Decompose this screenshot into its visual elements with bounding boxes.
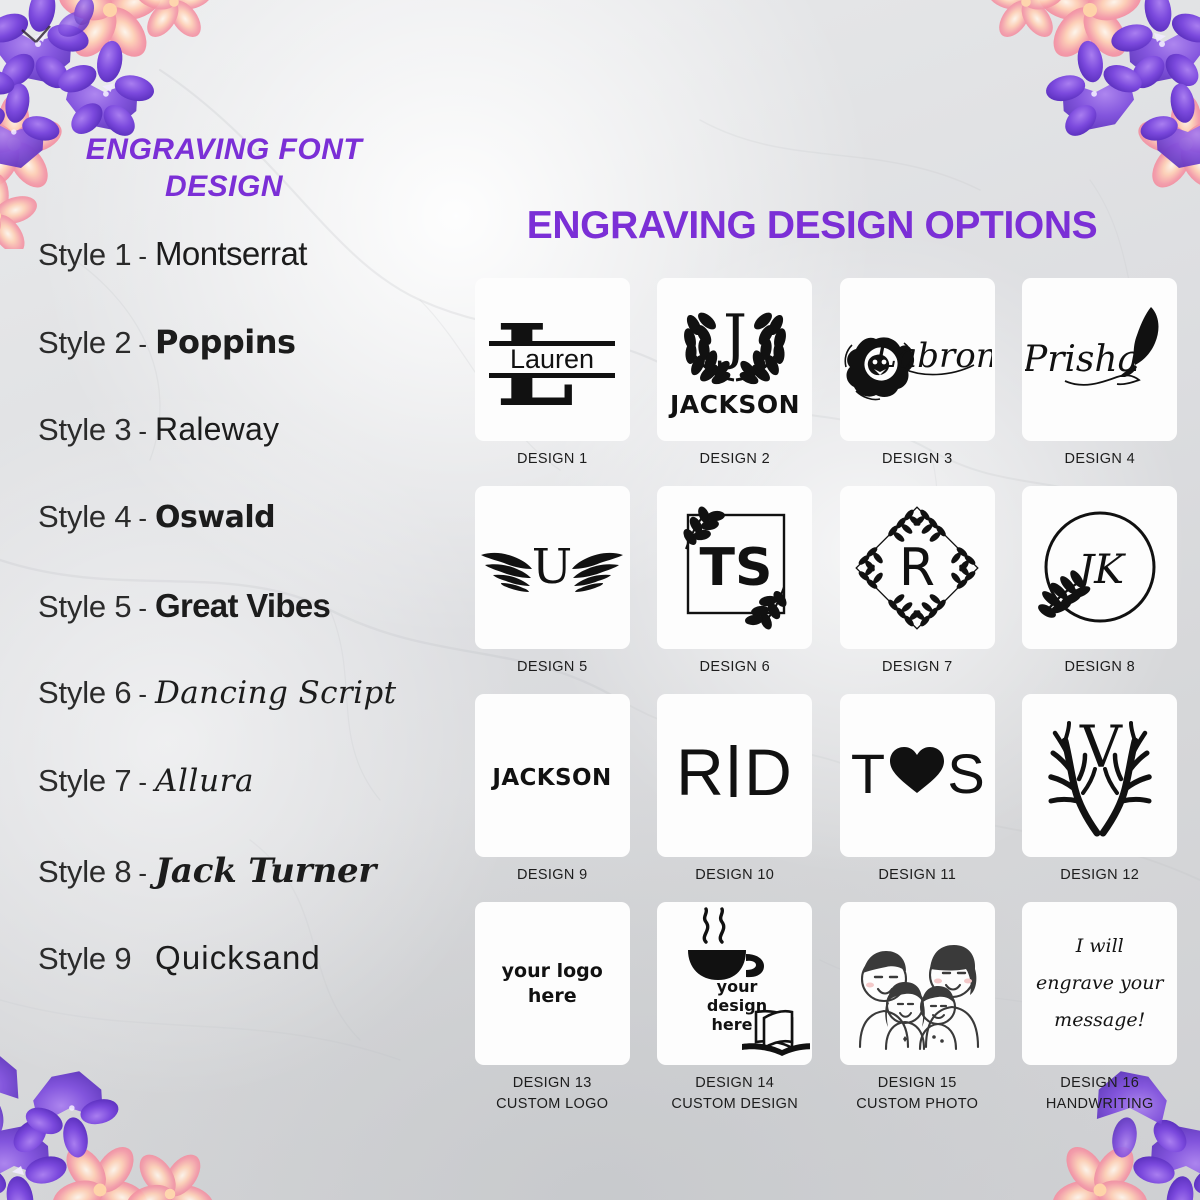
family-photo-icon [842, 909, 992, 1059]
design-tile[interactable]: V [1022, 694, 1177, 857]
design-cell[interactable]: L Lauren DESIGN 1 [470, 278, 635, 481]
style-label: Style 6 [38, 675, 131, 711]
design-caption: DESIGN 13 CUSTOM LOGO [470, 1065, 635, 1105]
style-font-name: Quicksand [155, 939, 321, 977]
circle-leaf-frame-icon: JK [1025, 493, 1175, 643]
font-style-list: Style 1 - Montserrat Style 2 - Poppins S… [0, 235, 470, 1027]
font-style-row[interactable]: Style 1 - Montserrat [0, 235, 470, 323]
font-style-row[interactable]: Style 7 - Allura [0, 763, 470, 851]
engraving-font-panel: ENGRAVING FONT DESIGN Style 1 - Montserr… [0, 132, 470, 1027]
style-label: Style 4 [38, 499, 131, 535]
style-label: Style 5 [38, 589, 131, 625]
design-caption: DESIGN 6 [653, 649, 818, 689]
style-dash: - [131, 329, 155, 360]
lion-head-icon: Labron [842, 285, 992, 435]
split-initials-icon: R D [660, 701, 810, 851]
style-dash: - [131, 767, 155, 798]
design-caption: DESIGN 15 CUSTOM PHOTO [835, 1065, 1000, 1105]
design10-left: R [676, 735, 724, 809]
design-cell[interactable]: JK [1018, 486, 1183, 689]
style-dash: - [131, 503, 155, 534]
design-cell[interactable]: JACKSON DESIGN 9 [470, 694, 635, 897]
design-cell[interactable]: TS [653, 486, 818, 689]
design-tile[interactable]: JK [1022, 486, 1177, 649]
design-cell[interactable]: J [653, 278, 818, 481]
style-font-name: Great Vibes [155, 587, 330, 625]
design6-letters: TS [699, 538, 772, 598]
font-style-row[interactable]: Style 9 - Quicksand [0, 939, 470, 1027]
style-dash: - [131, 241, 155, 272]
style-label: Style 1 [38, 237, 131, 273]
font-style-row[interactable]: Style 6 - Dancing Script [0, 675, 470, 763]
design16-line2: engrave your [1036, 972, 1164, 994]
antlers-icon: V [1025, 701, 1175, 851]
style-font-name: Allura [155, 763, 254, 799]
square-leaf-frame-icon: TS [660, 493, 810, 643]
angel-wings-icon: U [477, 493, 627, 643]
design16-line3: message! [1054, 1009, 1145, 1031]
plain-name-icon: JACKSON [477, 701, 627, 851]
design-tile[interactable]: R D [657, 694, 812, 857]
split-monogram-icon: L Lauren [477, 285, 627, 435]
style-label: Style 2 [38, 325, 131, 361]
diamond-vine-frame-icon: R [842, 493, 992, 643]
design4-name: Prisha [1025, 339, 1139, 380]
style-label: Style 9 [38, 941, 131, 977]
design2-name: JACKSON [668, 390, 800, 419]
design14-line3: here [711, 1015, 752, 1034]
font-panel-heading: ENGRAVING FONT DESIGN [24, 132, 424, 205]
design-caption: DESIGN 14 CUSTOM DESIGN [653, 1065, 818, 1105]
design-caption: DESIGN 1 [470, 441, 635, 481]
design-tile[interactable]: JACKSON [475, 694, 630, 857]
design-tile[interactable] [840, 902, 995, 1065]
font-style-row[interactable]: Style 5 - Great Vibes [0, 587, 470, 675]
custom-design-icon: your design here [660, 906, 810, 1061]
font-heading-line2: DESIGN [165, 170, 283, 203]
design-caption: DESIGN 12 [1018, 857, 1183, 897]
design-tile[interactable]: R [840, 486, 995, 649]
design-cell[interactable]: Labron DESIGN 3 [835, 278, 1000, 481]
design-caption: DESIGN 16 HANDWRITING [1018, 1065, 1183, 1105]
font-heading-line1: ENGRAVING FONT [86, 133, 362, 166]
style-dash: - [131, 416, 155, 447]
design-caption: DESIGN 9 [470, 857, 635, 897]
engraving-design-panel: ENGRAVING DESIGN OPTIONS L Lauren DESIGN… [470, 204, 1182, 1105]
design13-line2: here [528, 985, 577, 1007]
design5-letter: U [532, 539, 572, 595]
design-tile[interactable]: your logo here [475, 902, 630, 1065]
design9-name: JACKSON [491, 765, 612, 791]
design-tile[interactable]: T S [840, 694, 995, 857]
custom-logo-icon: your logo here [502, 959, 603, 1008]
design-caption: DESIGN 7 [835, 649, 1000, 689]
design-cell[interactable]: V [1018, 694, 1183, 897]
design-tile[interactable]: J [657, 278, 812, 441]
design-tile[interactable]: Labron [840, 278, 995, 441]
design-caption: DESIGN 10 [653, 857, 818, 897]
style-font-name: Raleway [155, 411, 279, 448]
floral-corner-bottom-left [0, 1010, 224, 1200]
style-font-name: Dancing Script [155, 675, 396, 711]
style-label: Style 3 [38, 412, 131, 448]
design-cell[interactable]: your design here DESIGN 14 CUSTOM DESIGN [653, 902, 818, 1105]
font-style-row[interactable]: Style 8 - Jack Turner [0, 851, 470, 939]
heart-initials-icon: T S [842, 701, 992, 851]
design-caption: DESIGN 4 [1018, 441, 1183, 481]
design-options-grid: L Lauren DESIGN 1 J [470, 278, 1182, 1105]
coffee-cup-icon [688, 909, 764, 980]
design11-right: S [948, 742, 985, 805]
design16-line1: I will [1076, 935, 1124, 957]
design-caption: DESIGN 2 [653, 441, 818, 481]
design-tile[interactable]: I will engrave your message! [1022, 902, 1177, 1065]
style-label: Style 8 [38, 854, 131, 890]
design-cell[interactable]: R [835, 486, 1000, 689]
font-style-row[interactable]: Style 2 - Poppins [0, 323, 470, 411]
style-font-name: Oswald [155, 500, 275, 535]
design14-line1: your [716, 977, 757, 996]
style-dash: - [131, 593, 155, 624]
design7-letter: R [899, 538, 935, 598]
design10-right: D [744, 735, 792, 809]
style-dash: - [131, 679, 155, 710]
design-caption: DESIGN 5 [470, 649, 635, 689]
design-cell[interactable]: U [470, 486, 635, 689]
design-tile[interactable]: Prisha [1022, 278, 1177, 441]
style-font-name: Jack Turner [155, 851, 376, 891]
laurel-wreath-icon: J [660, 285, 810, 435]
design1-name: Lauren [510, 344, 594, 374]
style-font-name: Montserrat [155, 235, 307, 273]
design-tile[interactable]: your design here [657, 902, 812, 1065]
style-font-name: Poppins [155, 323, 296, 361]
style-dash: - [131, 858, 155, 889]
design-tile[interactable]: U [475, 486, 630, 649]
design-cell[interactable]: Prisha DESIGN 4 [1018, 278, 1183, 481]
poster-canvas: ENGRAVING FONT DESIGN Style 1 - Montserr… [0, 0, 1200, 1200]
style-label: Style 7 [38, 763, 131, 799]
design-panel-heading: ENGRAVING DESIGN OPTIONS [476, 204, 1148, 248]
design-cell[interactable]: I will engrave your message! DESIGN 16 H… [1018, 902, 1183, 1105]
design-caption: DESIGN 3 [835, 441, 1000, 481]
design-caption: DESIGN 11 [835, 857, 1000, 897]
feather-quill-icon: Prisha [1025, 285, 1175, 435]
design-cell[interactable]: your logo here DESIGN 13 CUSTOM LOGO [470, 902, 635, 1105]
heart-icon [890, 747, 944, 793]
design-tile[interactable]: L Lauren [475, 278, 630, 441]
handwriting-icon: I will engrave your message! [1036, 928, 1164, 1039]
design-cell[interactable]: DESIGN 15 CUSTOM PHOTO [835, 902, 1000, 1105]
design13-line1: your logo [502, 960, 603, 982]
design11-left: T [851, 742, 885, 805]
design-tile[interactable]: TS [657, 486, 812, 649]
font-style-row[interactable]: Style 3 - Raleway [0, 411, 470, 499]
font-style-row[interactable]: Style 4 - Oswald [0, 499, 470, 587]
design-cell[interactable]: R D DESIGN 10 [653, 694, 818, 897]
design-caption: DESIGN 8 [1018, 649, 1183, 689]
design3-name: Labron [874, 336, 993, 376]
design-cell[interactable]: T S DESIGN 11 [835, 694, 1000, 897]
